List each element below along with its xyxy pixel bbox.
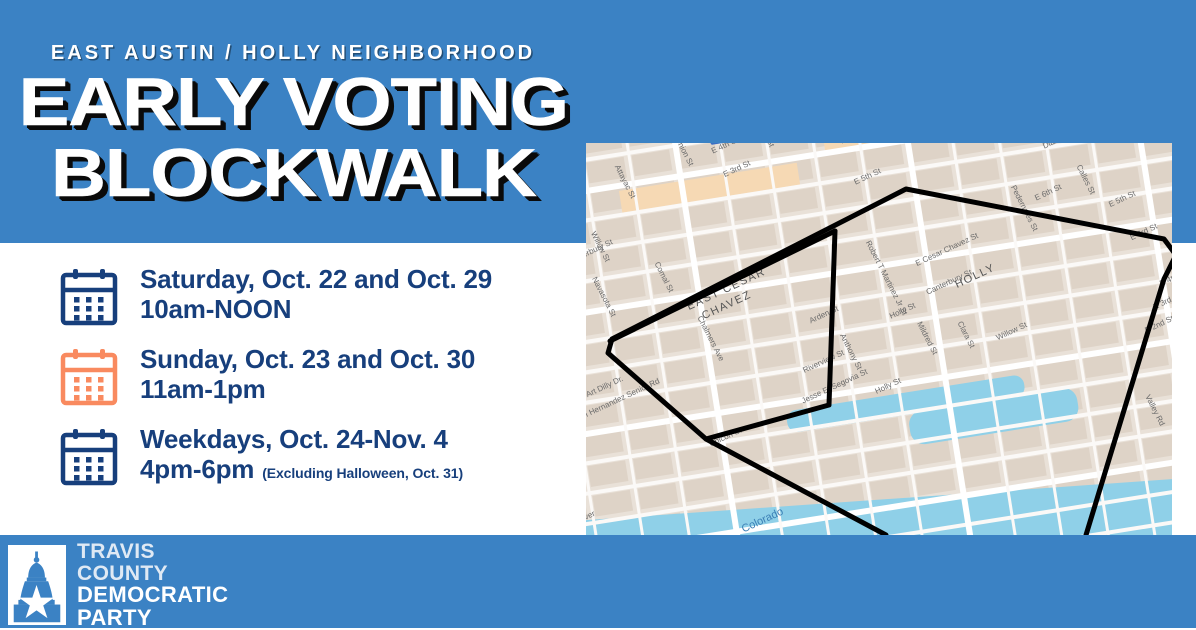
schedule-text: Weekdays, Oct. 24-Nov. 4 4pm-6pm(Excludi… [140,422,463,486]
map-canvas: E 7th StE 6th StE 5th StE 4th StE 3rd St… [586,143,1172,535]
calendar-icon [58,426,120,488]
schedule-note: (Excluding Halloween, Oct. 31) [262,465,463,481]
schedule-text: Sunday, Oct. 23 and Oct. 30 11am-1pm [140,342,475,406]
title-line-2: BLOCKWALK [51,142,536,205]
kicker-text: EAST AUSTIN / HOLLY NEIGHBORHOOD [51,42,535,65]
schedule-time: 11am-1pm [140,374,475,406]
headline-block: EAST AUSTIN / HOLLY NEIGHBORHOOD EARLY V… [0,0,586,243]
schedule-time-value: 4pm-6pm [140,454,254,484]
capitol-dome-star-icon [8,545,66,625]
title-line-1: EARLY VOTING [18,71,567,134]
poster-canvas: EAST AUSTIN / HOLLY NEIGHBORHOOD EARLY V… [0,0,1196,628]
calendar-icon [58,266,120,328]
calendar-icon [58,346,120,408]
logo-line-county: COUNTY [77,563,228,585]
schedule-date: Sunday, Oct. 23 and Oct. 30 [140,344,475,374]
schedule-time: 4pm-6pm(Excluding Halloween, Oct. 31) [140,454,463,486]
schedule-item: Saturday, Oct. 22 and Oct. 29 10am-NOON [58,262,578,328]
logo-line-party: PARTY [77,607,228,630]
schedule-item: Weekdays, Oct. 24-Nov. 4 4pm-6pm(Excludi… [58,422,578,488]
logo-line-democratic: DEMOCRATIC [77,584,228,607]
schedule-time: 10am-NOON [140,294,492,326]
schedule-list: Saturday, Oct. 22 and Oct. 29 10am-NOON [58,262,578,522]
travis-county-democratic-party-logo: TRAVIS COUNTY DEMOCRATIC PARTY [8,541,228,630]
schedule-date: Saturday, Oct. 22 and Oct. 29 [140,264,492,294]
schedule-text: Saturday, Oct. 22 and Oct. 29 10am-NOON [140,262,492,326]
schedule-item: Sunday, Oct. 23 and Oct. 30 11am-1pm [58,342,578,408]
schedule-date: Weekdays, Oct. 24-Nov. 4 [140,424,463,454]
neighborhood-map[interactable]: E 7th StE 6th StE 5th StE 4th StE 3rd St… [586,143,1172,535]
logo-wordmark: TRAVIS COUNTY DEMOCRATIC PARTY [77,541,228,630]
logo-line-travis: TRAVIS [77,541,228,563]
